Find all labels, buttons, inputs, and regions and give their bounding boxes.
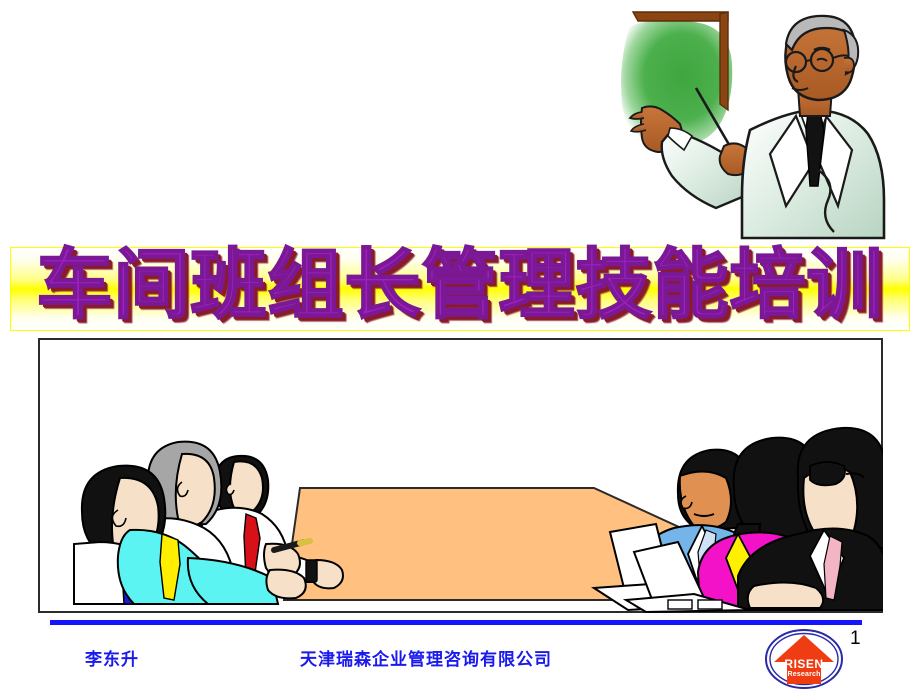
laptop-key-block-1 [668, 600, 692, 609]
chalkboard-frame-right [720, 12, 728, 110]
chalkboard-frame-top [633, 12, 728, 21]
laptop-key-block-2 [698, 600, 722, 609]
risen-logo: RISEN Research [763, 628, 845, 690]
lower-hand [266, 570, 305, 599]
glasses [810, 462, 845, 485]
presenter-name: 李东升 [85, 645, 139, 670]
slide-canvas: 车间班组长管理技能培训 [0, 0, 920, 690]
hand-right-front [748, 582, 823, 608]
page-number: 1 [850, 628, 861, 650]
teacher-illustration [600, 0, 920, 240]
glasses-bridge [806, 60, 811, 61]
face-left-back [230, 461, 263, 513]
teacher-ear [844, 58, 854, 73]
company-name: 天津瑞森企业管理咨询有限公司 [300, 645, 552, 670]
pen-tip [300, 541, 310, 543]
title-banner [10, 247, 910, 331]
footer-divider [50, 620, 862, 625]
wristwatch [306, 560, 317, 582]
meeting-illustration [38, 338, 883, 613]
